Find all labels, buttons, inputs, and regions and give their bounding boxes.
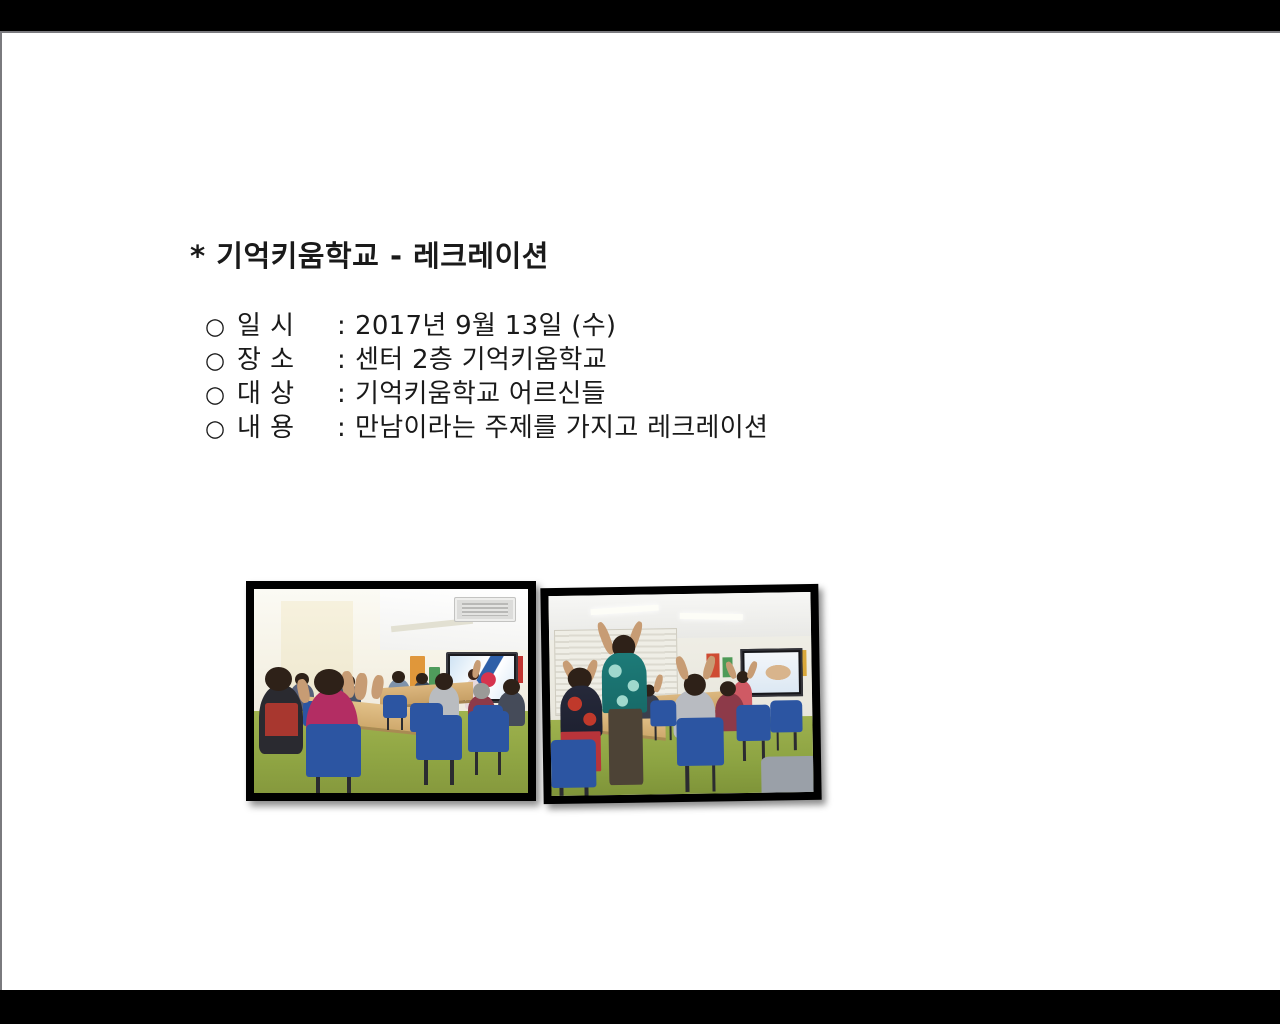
page-title: * 기억키움학교 - 레크레이션 [190, 233, 549, 275]
circle-bullet-icon: ○ [205, 384, 237, 407]
detail-label-date: 일 시 [237, 305, 337, 342]
detail-list: ○ 일 시 : 2017년 9월 13일 (수) ○ 장 소 : 센터 2층 기… [205, 305, 768, 441]
list-item: ○ 장 소 : 센터 2층 기억키움학교 [205, 339, 768, 373]
photo-classroom-clapping [246, 581, 536, 801]
detail-value-place: 센터 2층 기억키움학교 [355, 339, 607, 376]
list-item: ○ 대 상 : 기억키움학교 어르신들 [205, 373, 768, 407]
list-item: ○ 일 시 : 2017년 9월 13일 (수) [205, 305, 768, 339]
letterbox-bar-top [0, 0, 1280, 31]
circle-bullet-icon: ○ [205, 418, 237, 441]
slide-canvas: * 기억키움학교 - 레크레이션 ○ 일 시 : 2017년 9월 13일 (수… [0, 31, 1280, 990]
letterbox-bar-bottom [0, 990, 1280, 1024]
circle-bullet-icon: ○ [205, 316, 237, 339]
detail-value-content: 만남이라는 주제를 가지고 레크레이션 [355, 407, 768, 444]
detail-colon: : [337, 413, 355, 443]
detail-colon: : [337, 379, 355, 409]
detail-label-target: 대 상 [237, 373, 337, 410]
list-item: ○ 내 용 : 만남이라는 주제를 가지고 레크레이션 [205, 407, 768, 441]
detail-label-place: 장 소 [237, 339, 337, 376]
photo-classroom-clapping-image [254, 589, 528, 793]
photo-arms-raised-image [548, 592, 813, 796]
photo-arms-raised [540, 584, 821, 804]
detail-colon: : [337, 311, 355, 341]
circle-bullet-icon: ○ [205, 350, 237, 373]
detail-value-target: 기억키움학교 어르신들 [355, 373, 606, 410]
detail-value-date: 2017년 9월 13일 (수) [355, 305, 616, 342]
detail-colon: : [337, 345, 355, 375]
detail-label-content: 내 용 [237, 407, 337, 444]
